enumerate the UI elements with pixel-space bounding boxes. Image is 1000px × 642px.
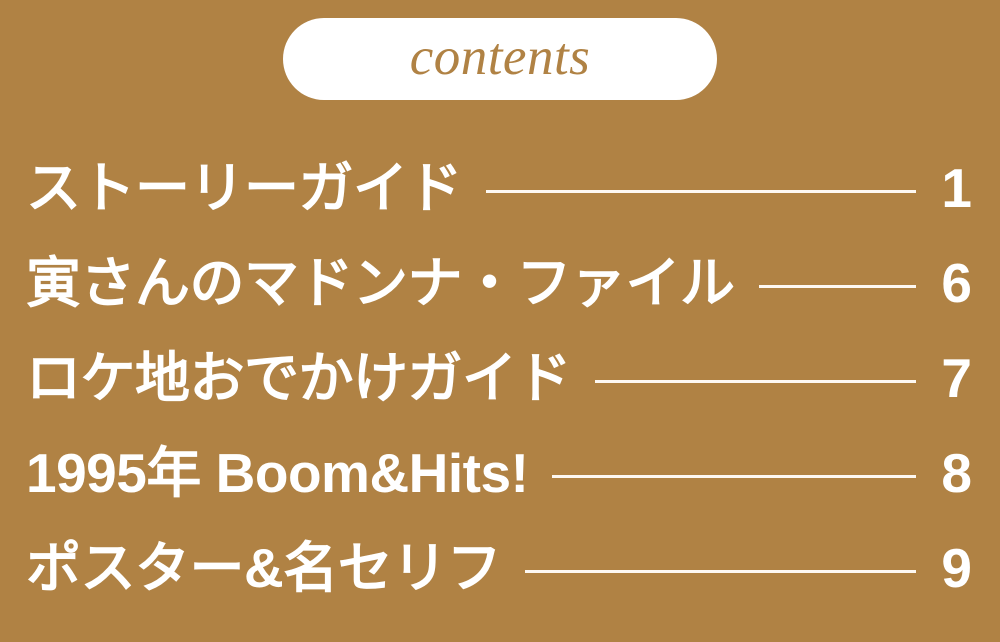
toc-entry-3[interactable]: ロケ地おでかけガイド 7 bbox=[0, 331, 1000, 426]
toc-leader-line bbox=[759, 285, 916, 288]
toc-entry-label: ロケ地おでかけガイド bbox=[26, 351, 571, 406]
toc-entry-page-number: 8 bbox=[938, 446, 972, 501]
toc-entry-page-number: 6 bbox=[938, 256, 972, 311]
toc-leader-line bbox=[525, 570, 916, 573]
toc-entry-2[interactable]: 寅さんのマドンナ・ファイル 6 bbox=[0, 236, 1000, 331]
toc-leader-line bbox=[486, 190, 916, 193]
toc-leader-line bbox=[552, 475, 916, 478]
page-title: contents bbox=[410, 31, 591, 88]
toc-entry-page-number: 1 bbox=[938, 161, 972, 216]
table-of-contents: ストーリーガイド 1 寅さんのマドンナ・ファイル 6 ロケ地おでかけガイド 7 … bbox=[0, 141, 1000, 616]
toc-entry-4[interactable]: 1995年 Boom&Hits! 8 bbox=[0, 426, 1000, 521]
toc-entry-label: 1995年 Boom&Hits! bbox=[26, 446, 528, 501]
contents-title-pill: contents bbox=[283, 18, 717, 100]
page-header: contents bbox=[0, 18, 1000, 100]
contents-page: contents ストーリーガイド 1 寅さんのマドンナ・ファイル 6 ロケ地お… bbox=[0, 0, 1000, 642]
toc-entry-label: ポスター&名セリフ bbox=[26, 541, 501, 596]
toc-entry-page-number: 7 bbox=[938, 351, 972, 406]
toc-entry-label: ストーリーガイド bbox=[26, 161, 462, 216]
toc-entry-5[interactable]: ポスター&名セリフ 9 bbox=[0, 521, 1000, 616]
toc-entry-label: 寅さんのマドンナ・ファイル bbox=[26, 256, 735, 311]
toc-entry-1[interactable]: ストーリーガイド 1 bbox=[0, 141, 1000, 236]
toc-leader-line bbox=[595, 380, 916, 383]
toc-entry-page-number: 9 bbox=[938, 541, 972, 596]
